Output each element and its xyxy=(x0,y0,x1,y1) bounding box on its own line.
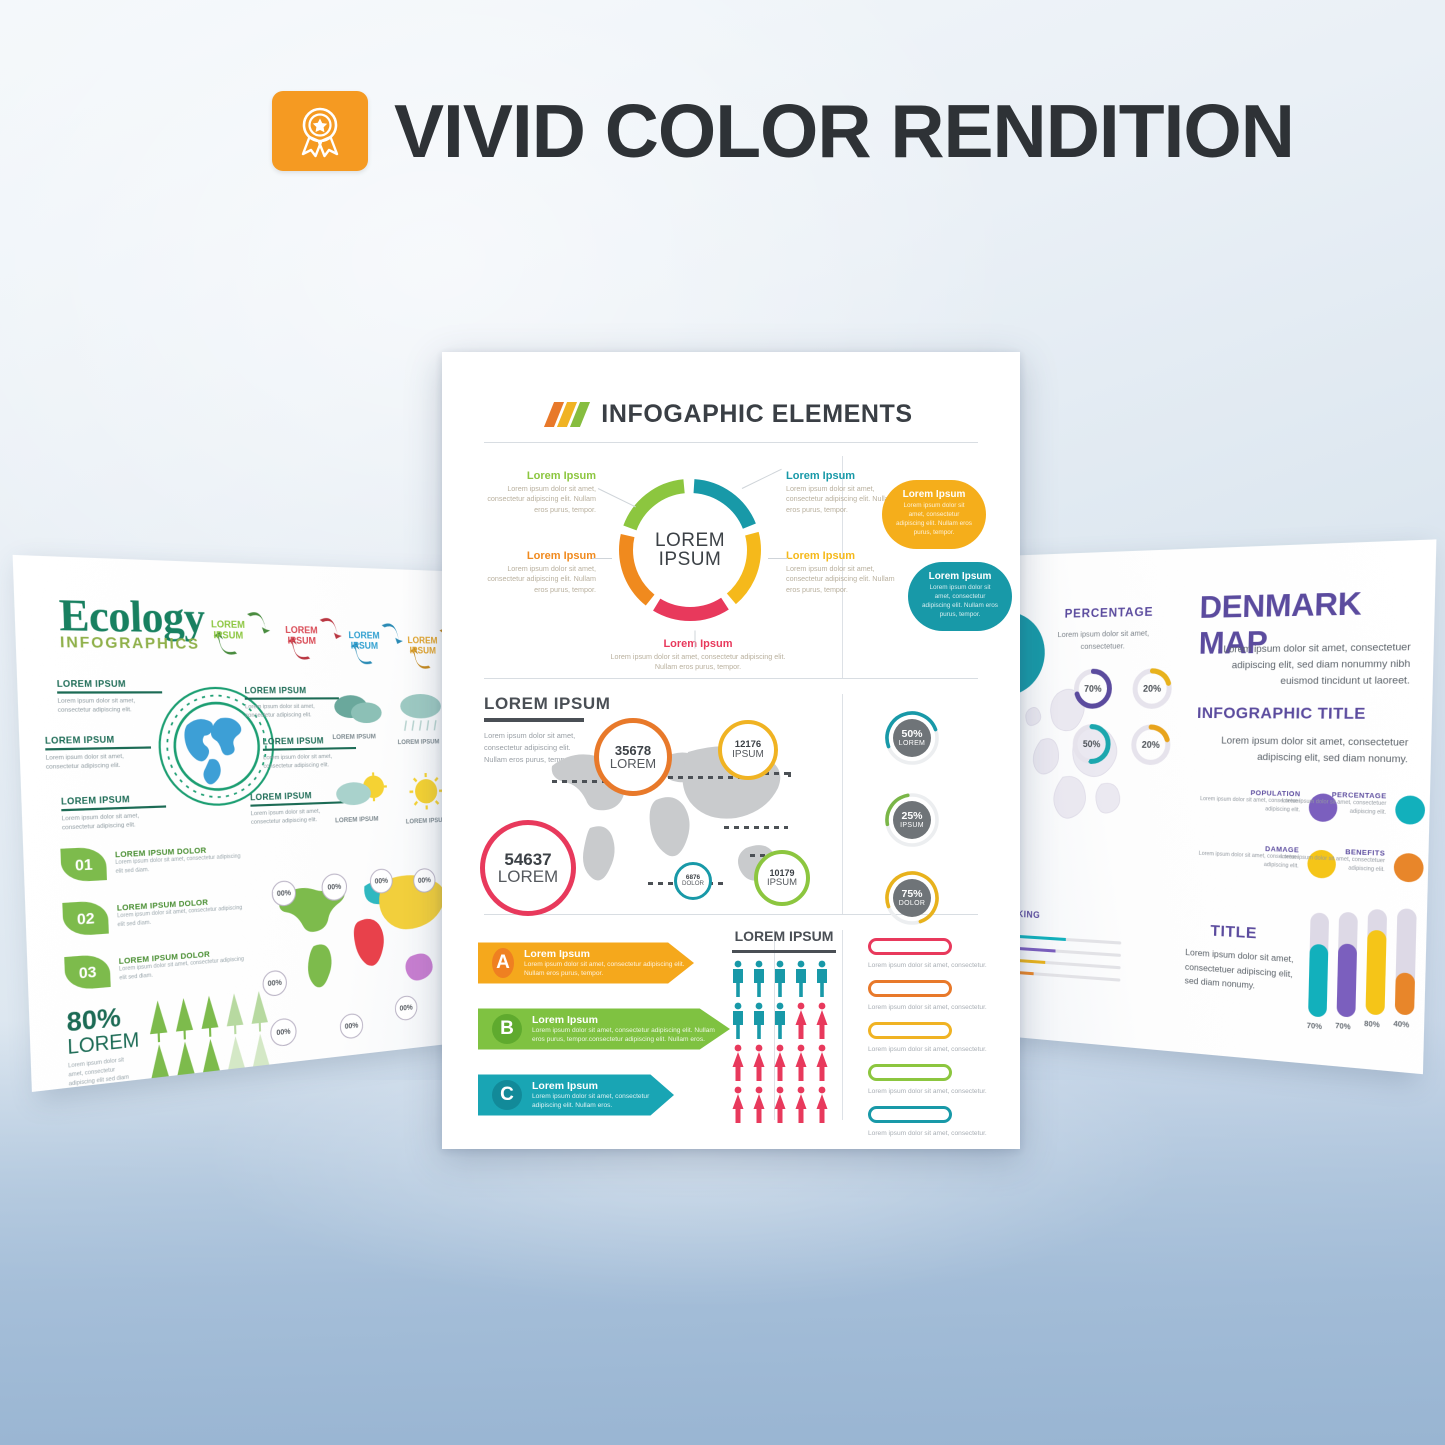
recycle-line1: LOREM xyxy=(211,619,245,631)
progress-circle-25: 25% IPSUM xyxy=(884,792,940,848)
map-bubble: 00% xyxy=(340,1012,364,1039)
callout-leader-line xyxy=(768,558,788,559)
arrow-body: Lorem ipsum dolor sit amet, consectetur … xyxy=(524,960,694,979)
mini-donut: 20% xyxy=(1129,723,1172,767)
mini-donut-value: 20% xyxy=(1129,723,1172,767)
map-bubble: 00% xyxy=(270,1017,297,1047)
map-marker-6876: 6876 DOLOR xyxy=(674,862,712,900)
arrow-title: Lorem Ipsum xyxy=(532,1014,728,1026)
map-marker-54637: 54637 LOREM xyxy=(480,820,576,916)
donut-center-line2: IPSUM xyxy=(659,550,722,569)
leaf-item: 02 LOREM IPSUM DOLOR Lorem ipsum dolor s… xyxy=(62,892,244,937)
ecology-title-block: Ecology INFOGRAPHICS xyxy=(58,588,206,652)
globe-label-body: Lorem ipsum dolor sit amet, consectetur … xyxy=(45,751,151,772)
mini-donut: 70% xyxy=(1072,667,1114,710)
arrow-band-b[interactable]: B Lorem Ipsum Lorem ipsum dolor sit amet… xyxy=(478,1002,730,1056)
globe-label-body: Lorem ipsum dolor sit amet, consectetur … xyxy=(245,702,340,720)
map-marker-10179: 10179 IPSUM xyxy=(754,850,810,906)
progress-inner: 75% DOLOR xyxy=(893,879,931,917)
globe-label-title: LOREM IPSUM xyxy=(61,793,166,806)
recycle-line2: IPSUM xyxy=(211,630,245,642)
recycle-line2: IPSUM xyxy=(408,645,438,656)
leaf-number: 02 xyxy=(62,900,109,937)
progress-circle-50: 50% LOREM xyxy=(884,710,940,766)
leaf-number: 01 xyxy=(60,847,107,883)
list-bar-pink xyxy=(868,938,952,955)
progress-circle-75: 75% DOLOR xyxy=(884,870,940,926)
map-marker-12176: 12176 IPSUM xyxy=(718,720,778,780)
map-dot-connector xyxy=(788,772,791,828)
arrow-badge: B xyxy=(492,1014,522,1044)
callout-body: Lorem ipsum dolor sit amet, consectetur … xyxy=(484,564,596,595)
callout-leader-line xyxy=(592,558,612,559)
globe-label: LOREM IPSUM Lorem ipsum dolor sit amet, … xyxy=(57,679,163,716)
people-chart-underline xyxy=(732,950,836,953)
globe-label-body: Lorem ipsum dolor sit amet, consectetur … xyxy=(263,752,357,772)
list-bar-teal xyxy=(868,1106,952,1123)
sun-cloud-icon xyxy=(334,772,389,813)
list-bar-yellow xyxy=(868,1022,952,1039)
mini-donut-value: 50% xyxy=(1071,722,1113,765)
recycle-badge: LOREM IPSUM xyxy=(285,616,318,647)
leaf-item: 03 LOREM IPSUM DOLOR Lorem ipsum dolor s… xyxy=(64,943,246,991)
donut-callout: Lorem Ipsum Lorem ipsum dolor sit amet, … xyxy=(786,470,898,515)
globe-label-body: Lorem ipsum dolor sit amet, consectetur … xyxy=(251,806,345,827)
map-marker-35678: 35678 LOREM xyxy=(594,718,672,796)
marker-number: 35678 xyxy=(615,744,651,757)
marker-label: LOREM xyxy=(498,868,558,885)
legend-body: Lorem ipsum dolor sit amet, consectetuer… xyxy=(1270,798,1387,818)
list-caption: Lorem ipsum dolor sit amet, consectetur. xyxy=(868,1130,992,1137)
recycle-badge: LOREM IPSUM xyxy=(211,610,246,642)
list-bar-orange xyxy=(868,980,952,997)
callout-leader-line xyxy=(695,631,696,649)
side-pill-teal: Lorem Ipsum Lorem ipsum dolor sit amet, … xyxy=(908,562,1012,631)
recycle-badge: LOREM IPSUM xyxy=(348,621,380,651)
progress-label: DOLOR xyxy=(899,900,925,907)
mini-donut-value: 20% xyxy=(1131,667,1174,711)
bar-label: 70% xyxy=(1307,1023,1322,1032)
arrow-badge: C xyxy=(492,1080,522,1110)
bar-chart-body: Lorem ipsum dolor sit amet, consectetuer… xyxy=(1184,946,1301,997)
map-section-title: LOREM IPSUM xyxy=(484,694,611,714)
donut-callout: Lorem Ipsum Lorem ipsum dolor sit amet, … xyxy=(484,470,596,515)
arrow-letter: B xyxy=(500,1018,514,1040)
callout-title: Lorem Ipsum xyxy=(610,638,786,650)
marker-label: DOLOR xyxy=(682,881,704,887)
page-title: VIVID COLOR RENDITION xyxy=(394,88,1294,174)
percentage-body: Lorem ipsum dolor sit amet, consectetuer… xyxy=(1049,627,1159,653)
center-title: INFOGAPHIC ELEMENTS xyxy=(601,400,912,429)
legend-body: Lorem ipsum dolor sit amet, consectetuer… xyxy=(1269,853,1385,875)
mini-donut: 50% xyxy=(1071,722,1113,765)
callout-title: Lorem Ipsum xyxy=(484,550,596,562)
denmark-subtitle: Lorem ipsum dolor sit amet, consectetuer… xyxy=(1198,638,1411,689)
bar-fill xyxy=(1337,943,1358,1017)
pill-title: Lorem Ipsum xyxy=(895,489,973,500)
arrow-letter: A xyxy=(496,952,510,974)
divider-bottom xyxy=(842,930,843,1120)
legend-dot xyxy=(1395,795,1425,825)
recycle-line1: LOREM xyxy=(285,624,318,635)
callout-title: Lorem Ipsum xyxy=(786,550,898,562)
bar-chart-title: TITLE xyxy=(1210,922,1257,943)
donut-callout: Lorem Ipsum Lorem ipsum dolor sit amet, … xyxy=(484,550,596,595)
callout-body: Lorem ipsum dolor sit amet, consectetur … xyxy=(610,652,786,673)
marker-label: IPSUM xyxy=(767,878,797,888)
denmark-section-title: INFOGRAPHIC TITLE xyxy=(1197,704,1366,723)
list-bar-green xyxy=(868,1064,952,1081)
callout-body: Lorem ipsum dolor sit amet, consectetur … xyxy=(484,484,596,515)
page-headline: VIVID COLOR RENDITION xyxy=(272,88,1294,174)
bar-label: 70% xyxy=(1335,1023,1351,1032)
legend-dot xyxy=(1394,853,1424,883)
bar-fill xyxy=(1395,972,1415,1015)
side-pill-orange: Lorem Ipsum Lorem ipsum dolor sit amet, … xyxy=(882,480,986,549)
pill-body: Lorem ipsum dolor sit amet, consectetur … xyxy=(895,502,973,538)
arrow-body: Lorem ipsum dolor sit amet, consectetur … xyxy=(532,1092,652,1111)
list-caption: Lorem ipsum dolor sit amet, consectetur. xyxy=(868,1046,992,1053)
callout-title: Lorem Ipsum xyxy=(484,470,596,482)
recycle-line2: IPSUM xyxy=(285,635,318,646)
progress-value: 25% xyxy=(901,811,922,822)
award-ribbon-icon xyxy=(272,91,368,171)
callout-title: Lorem Ipsum xyxy=(786,470,898,482)
donut-callout: Lorem Ipsum Lorem ipsum dolor sit amet, … xyxy=(610,638,786,673)
divider-mid xyxy=(842,694,843,914)
pill-body: Lorem ipsum dolor sit amet, consectetur … xyxy=(921,584,999,620)
donut-callout: Lorem Ipsum Lorem ipsum dolor sit amet, … xyxy=(786,550,898,595)
map-dot-connector xyxy=(724,826,788,829)
percentage-header: PERCENTAGE xyxy=(1065,604,1154,620)
section-rule-1 xyxy=(484,678,978,679)
arrow-title: Lorem Ipsum xyxy=(524,948,694,960)
ecology-poster[interactable]: Ecology INFOGRAPHICS LOREM IPSUM LOREM I… xyxy=(13,555,472,1092)
globe-label: LOREM IPSUM Lorem ipsum dolor sit amet, … xyxy=(244,686,339,721)
legend-item-percentage: PERCENTAGE Lorem ipsum dolor sit amet, c… xyxy=(1270,790,1426,825)
arrow-title: Lorem Ipsum xyxy=(532,1080,652,1092)
eco-stat: 80% LOREM Lorem ipsum dolor sit amet, co… xyxy=(66,1004,141,1091)
list-caption: Lorem ipsum dolor sit amet, consectetur. xyxy=(868,962,992,969)
recycle-line1: LOREM xyxy=(407,635,437,646)
globe-label-title: LOREM IPSUM xyxy=(244,686,338,696)
bar-label: 80% xyxy=(1364,1021,1380,1030)
people-pictogram xyxy=(730,960,838,1130)
globe-label-title: LOREM IPSUM xyxy=(250,790,344,803)
marker-number: 54637 xyxy=(504,851,551,868)
callout-body: Lorem ipsum dolor sit amet, consectetur … xyxy=(786,564,898,595)
slash-logo-icon xyxy=(549,402,585,427)
globe-label-title: LOREM IPSUM xyxy=(57,679,162,689)
center-header: INFOGAPHIC ELEMENTS xyxy=(442,390,1020,438)
list-caption: Lorem ipsum dolor sit amet, consectetur. xyxy=(868,1004,992,1011)
leaf-item: 01 LOREM IPSUM DOLOR Lorem ipsum dolor s… xyxy=(60,840,242,882)
globe-label: LOREM IPSUM Lorem ipsum dolor sit amet, … xyxy=(61,793,167,833)
progress-value: 50% xyxy=(901,729,922,740)
recycle-line1: LOREM xyxy=(348,630,379,641)
marker-label: IPSUM xyxy=(732,750,764,760)
map-section-underline xyxy=(484,718,584,722)
progress-label: IPSUM xyxy=(900,822,924,829)
recycle-badge: LOREM IPSUM xyxy=(407,627,438,657)
bar-label: 40% xyxy=(1393,1021,1409,1030)
globe-label-title: LOREM IPSUM xyxy=(45,734,151,746)
legend-item-benefits: BENEFITS Lorem ipsum dolor sit amet, con… xyxy=(1268,846,1423,883)
progress-inner: 50% LOREM xyxy=(893,719,931,757)
recycle-line2: IPSUM xyxy=(349,641,380,652)
progress-value: 75% xyxy=(901,889,922,900)
infographic-elements-poster[interactable]: INFOGAPHIC ELEMENTS LOREM IPSUM Lorem Ip… xyxy=(442,352,1020,1149)
process-donut-chart: LOREM IPSUM xyxy=(610,470,770,630)
list-caption: Lorem ipsum dolor sit amet, consectetur. xyxy=(868,1088,992,1095)
weather-label: LOREM IPSUM xyxy=(398,738,440,746)
arrow-band-c[interactable]: C Lorem Ipsum Lorem ipsum dolor sit amet… xyxy=(478,1068,674,1122)
mini-donut-value: 70% xyxy=(1072,667,1114,710)
progress-inner: 25% IPSUM xyxy=(893,801,931,839)
arrow-band-a[interactable]: A Lorem Ipsum Lorem ipsum dolor sit amet… xyxy=(478,936,694,990)
globe-label-body: Lorem ipsum dolor sit amet, consectetur … xyxy=(57,696,163,715)
ecology-subtitle: INFOGRAPHICS xyxy=(60,633,206,653)
donut-center-label: LOREM IPSUM xyxy=(610,470,770,630)
marker-label: LOREM xyxy=(610,757,656,770)
rain-cloud-icon xyxy=(396,692,447,737)
bar-fill xyxy=(1365,930,1386,1016)
pill-title: Lorem Ipsum xyxy=(921,571,999,582)
weather-label: LOREM IPSUM xyxy=(332,733,376,741)
arrow-badge: A xyxy=(492,948,514,978)
mini-donut: 20% xyxy=(1131,667,1174,711)
leaf-number: 03 xyxy=(64,954,110,991)
people-chart-title: LOREM IPSUM xyxy=(732,928,836,944)
globe-label: LOREM IPSUM Lorem ipsum dolor sit amet, … xyxy=(45,734,152,772)
denmark-section-body: Lorem ipsum dolor sit amet, consectetuer… xyxy=(1196,732,1409,768)
weather-label: LOREM IPSUM xyxy=(335,815,379,824)
arrow-letter: C xyxy=(500,1084,514,1106)
clouds-icon xyxy=(331,690,386,728)
header-rule xyxy=(484,442,978,443)
denmark-map-poster[interactable]: DENMARK MAP Lorem ipsum dolor sit amet, … xyxy=(999,539,1437,1074)
arrow-body: Lorem ipsum dolor sit amet, consectetur … xyxy=(532,1026,728,1045)
donut-center-line1: LOREM xyxy=(655,531,725,550)
globe-label-body: Lorem ipsum dolor sit amet, consectetur … xyxy=(61,810,166,833)
globe-label: LOREM IPSUM Lorem ipsum dolor sit amet, … xyxy=(250,790,345,828)
progress-label: LOREM xyxy=(899,740,925,747)
bar-fill xyxy=(1308,944,1328,1018)
